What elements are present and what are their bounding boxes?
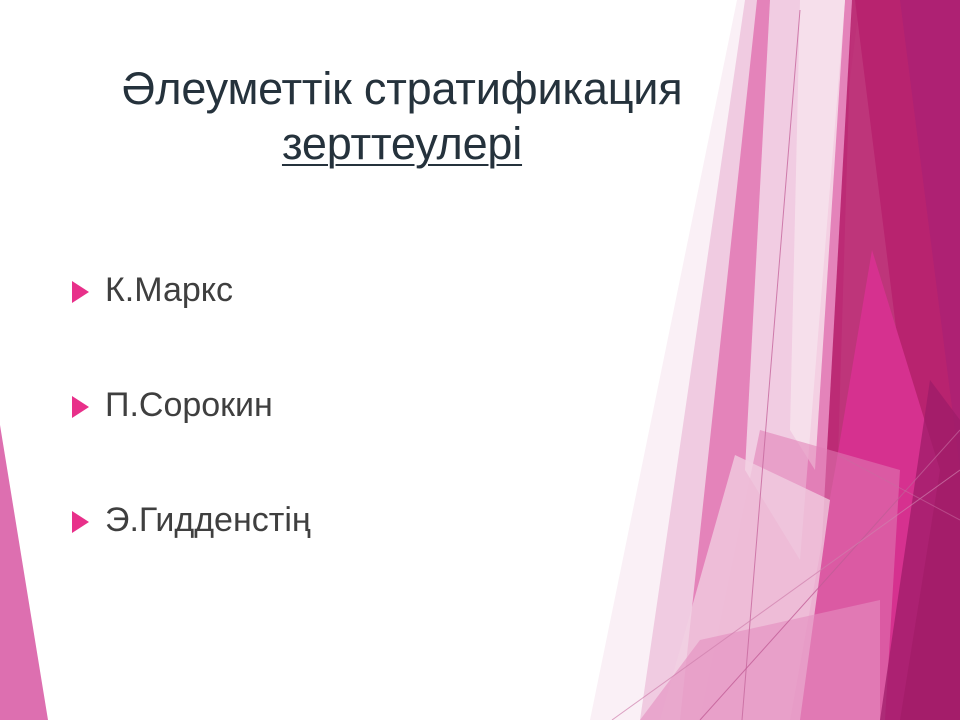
bullet-list: К.Маркс П.Сорокин Э.Гидденстің: [72, 262, 692, 550]
decor-shape-lower-veil: [700, 430, 900, 720]
decor-shape-pale-overlay: [745, 0, 845, 560]
decor-shape-deep-shadow: [880, 380, 960, 720]
decor-hairline-upper: [742, 10, 800, 720]
decor-hairline-short: [838, 455, 960, 520]
list-item: Э.Гидденстің: [72, 492, 692, 550]
triangle-bullet-icon: [72, 396, 89, 418]
list-item-label: П.Сорокин: [105, 387, 273, 424]
decor-shape-bright-pink-wedge: [790, 250, 940, 720]
decor-shape-bottom-foot: [640, 600, 880, 720]
decor-shape-magenta-wedge: [812, 0, 960, 720]
list-item: К.Маркс: [72, 262, 692, 320]
slide-title-line-2-underlined: зерттеулері: [62, 117, 742, 172]
triangle-bullet-icon: [72, 511, 89, 533]
decor-shape-left-triangle: [0, 425, 48, 720]
decor-shape-highlight-sliver: [790, 0, 845, 470]
list-item-label: Э.Гидденстің: [105, 502, 311, 539]
triangle-bullet-icon: [72, 281, 89, 303]
decor-hairline-diagonal-1: [700, 430, 960, 720]
slide-title: Әлеуметтік стратификация зерттеулері: [62, 62, 742, 172]
slide-title-line-1: Әлеуметтік стратификация: [62, 62, 742, 117]
decor-shape-dark-magenta: [820, 0, 960, 720]
list-item: П.Сорокин: [72, 377, 692, 435]
list-item-label: К.Маркс: [105, 272, 233, 309]
slide-canvas: Әлеуметтік стратификация зерттеулері К.М…: [0, 0, 960, 720]
